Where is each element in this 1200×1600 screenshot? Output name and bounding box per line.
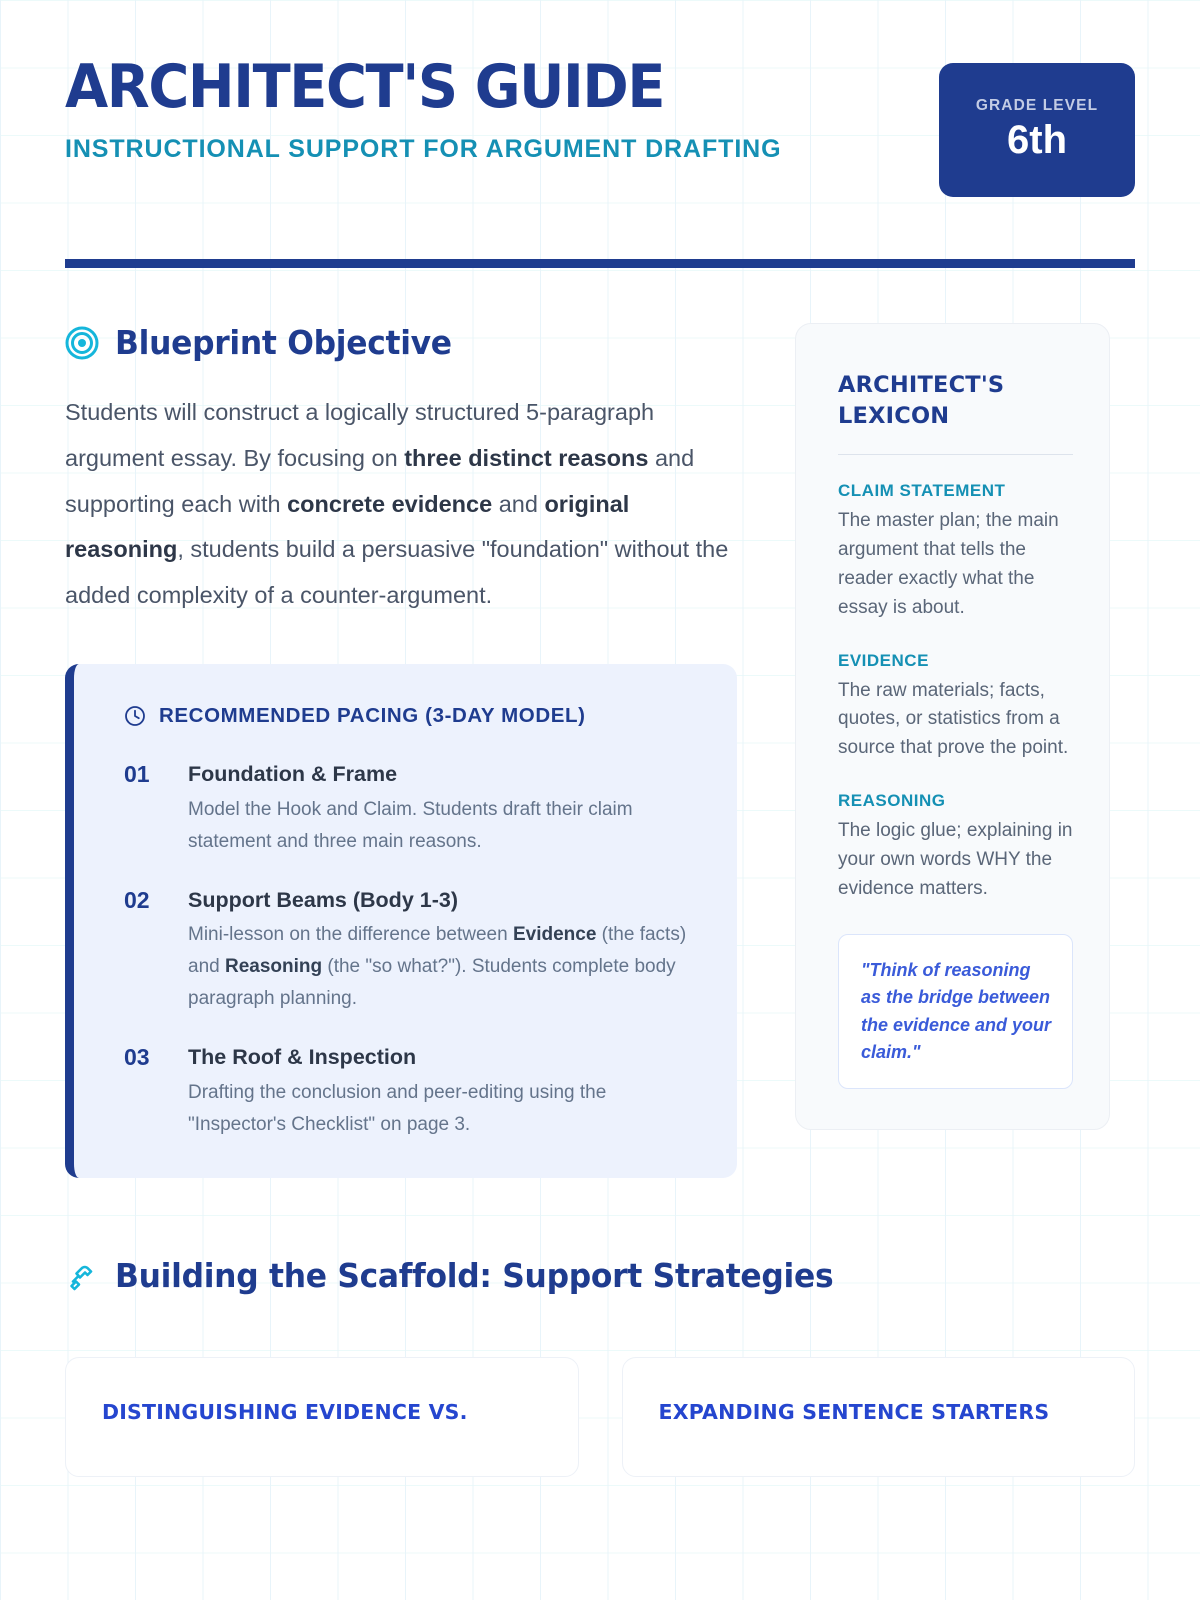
pacing-step-title: Foundation & Frame xyxy=(188,758,697,791)
scaffold-section: Building the Scaffold: Support Strategie… xyxy=(65,1256,1135,1477)
pacing-step: 03 The Roof & Inspection Drafting the co… xyxy=(124,1041,697,1140)
lexicon-entry: CLAIM STATEMENT The master plan; the mai… xyxy=(838,481,1073,623)
clock-icon xyxy=(124,705,146,727)
scaffold-card-title: EXPANDING SENTENCE STARTERS xyxy=(659,1398,1099,1427)
pacing-step-description: Drafting the conclusion and peer-editing… xyxy=(188,1077,697,1141)
lexicon-entry: REASONING The logic glue; explaining in … xyxy=(838,791,1073,904)
scaffold-card: EXPANDING SENTENCE STARTERS xyxy=(622,1357,1136,1477)
main-column: Blueprint Objective Students will constr… xyxy=(65,323,737,1178)
target-icon xyxy=(65,326,99,360)
pacing-step: 02 Support Beams (Body 1-3) Mini-lesson … xyxy=(124,884,697,1015)
lexicon-definition: The master plan; the main argument that … xyxy=(838,507,1073,623)
scaffold-card-title: DISTINGUISHING EVIDENCE VS. xyxy=(102,1398,542,1427)
lexicon-term: EVIDENCE xyxy=(838,651,1073,671)
pacing-step-body: Foundation & Frame Model the Hook and Cl… xyxy=(188,758,697,857)
lexicon-term: REASONING xyxy=(838,791,1073,811)
content-area: Blueprint Objective Students will constr… xyxy=(65,323,1135,1178)
objective-paragraph: Students will construct a logically stru… xyxy=(65,390,737,619)
pacing-card: RECOMMENDED PACING (3-DAY MODEL) 01 Foun… xyxy=(65,664,737,1178)
page-subtitle: INSTRUCTIONAL SUPPORT FOR ARGUMENT DRAFT… xyxy=(65,133,781,166)
lexicon-definition: The logic glue; explaining in your own w… xyxy=(838,817,1073,904)
objective-section-heading: Blueprint Objective xyxy=(65,323,737,362)
pacing-step-body: The Roof & Inspection Drafting the concl… xyxy=(188,1041,697,1140)
lexicon-divider xyxy=(838,454,1073,455)
grade-level-label: GRADE LEVEL xyxy=(976,97,1098,115)
pacing-step-number: 01 xyxy=(124,758,166,857)
grade-level-value: 6th xyxy=(1007,117,1067,163)
scaffold-card-grid: DISTINGUISHING EVIDENCE VS. EXPANDING SE… xyxy=(65,1357,1135,1477)
scaffold-section-heading: Building the Scaffold: Support Strategie… xyxy=(65,1256,1135,1295)
hammer-icon xyxy=(65,1259,99,1293)
pacing-step-number: 03 xyxy=(124,1041,166,1140)
pacing-card-title: RECOMMENDED PACING (3-DAY MODEL) xyxy=(124,704,697,728)
page-header: ARCHITECT'S GUIDE INSTRUCTIONAL SUPPORT … xyxy=(65,0,1135,197)
header-divider-rule xyxy=(65,259,1135,268)
header-text-block: ARCHITECT'S GUIDE INSTRUCTIONAL SUPPORT … xyxy=(65,58,781,166)
lexicon-term: CLAIM STATEMENT xyxy=(838,481,1073,501)
lexicon-quote-box: "Think of reasoning as the bridge betwee… xyxy=(838,934,1073,1089)
pacing-step-title: Support Beams (Body 1-3) xyxy=(188,884,697,917)
pacing-step-body: Support Beams (Body 1-3) Mini-lesson on … xyxy=(188,884,697,1015)
pacing-step-description: Model the Hook and Claim. Students draft… xyxy=(188,794,697,858)
pacing-step-description: Mini-lesson on the difference between Ev… xyxy=(188,919,697,1015)
pacing-step-list: 01 Foundation & Frame Model the Hook and… xyxy=(124,758,697,1140)
scaffold-heading-text: Building the Scaffold: Support Strategie… xyxy=(115,1256,833,1295)
guide-page: ARCHITECT'S GUIDE INSTRUCTIONAL SUPPORT … xyxy=(0,0,1200,1600)
objective-heading-text: Blueprint Objective xyxy=(115,323,452,362)
pacing-step-number: 02 xyxy=(124,884,166,1015)
sidebar-column: ARCHITECT'S LEXICON CLAIM STATEMENT The … xyxy=(795,323,1110,1178)
scaffold-card: DISTINGUISHING EVIDENCE VS. xyxy=(65,1357,579,1477)
grade-level-badge: GRADE LEVEL 6th xyxy=(939,63,1135,197)
lexicon-card: ARCHITECT'S LEXICON CLAIM STATEMENT The … xyxy=(795,323,1110,1130)
lexicon-title: ARCHITECT'S LEXICON xyxy=(838,370,1073,432)
pacing-step: 01 Foundation & Frame Model the Hook and… xyxy=(124,758,697,857)
pacing-step-title: The Roof & Inspection xyxy=(188,1041,697,1074)
pacing-card-title-text: RECOMMENDED PACING (3-DAY MODEL) xyxy=(159,704,586,728)
lexicon-entry: EVIDENCE The raw materials; facts, quote… xyxy=(838,651,1073,764)
page-title: ARCHITECT'S GUIDE xyxy=(65,58,731,117)
lexicon-definition: The raw materials; facts, quotes, or sta… xyxy=(838,677,1073,764)
